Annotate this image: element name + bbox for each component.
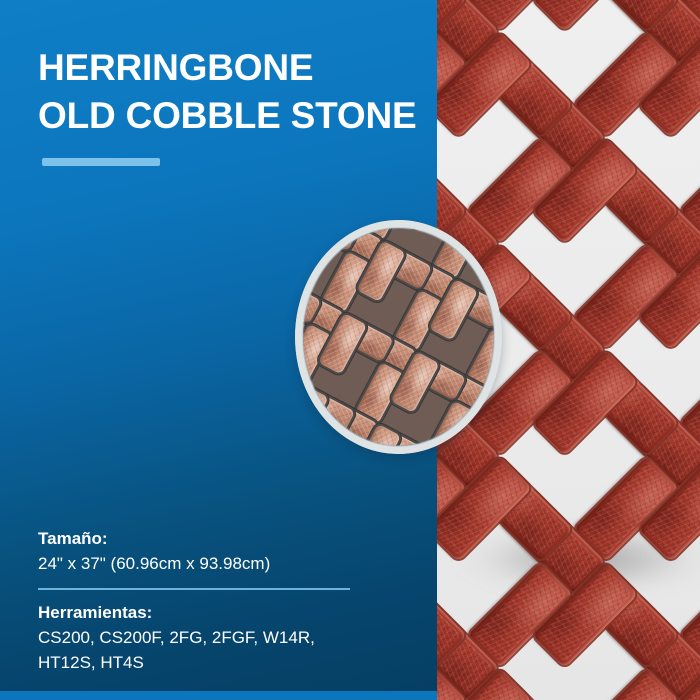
tools-value-line-2: HT12S, HT4S bbox=[38, 650, 398, 675]
size-value: 24" x 37" (60.96cm x 93.98cm) bbox=[38, 551, 398, 576]
product-card: HERRINGBONE OLD COBBLE STONE Tamaño: 24"… bbox=[0, 0, 700, 700]
spec-divider bbox=[38, 588, 350, 590]
size-label: Tamaño: bbox=[38, 527, 398, 551]
title-line-2: OLD COBBLE STONE bbox=[38, 92, 428, 140]
cobble-stone bbox=[395, 228, 444, 230]
cobble-pattern bbox=[303, 228, 494, 446]
title-line-1: HERRINGBONE bbox=[38, 44, 428, 92]
tools-label: Herramientas: bbox=[38, 601, 398, 625]
panel-bottom-strip bbox=[0, 691, 437, 700]
texture-photo bbox=[303, 228, 494, 446]
title-accent-bar bbox=[42, 158, 160, 166]
tools-value-line-1: CS200, CS200F, 2FG, 2FGF, W14R, bbox=[38, 625, 398, 650]
texture-inset-circle bbox=[295, 220, 502, 454]
spec-list: Tamaño: 24" x 37" (60.96cm x 93.98cm) He… bbox=[38, 527, 398, 675]
page-title: HERRINGBONE OLD COBBLE STONE bbox=[38, 44, 428, 140]
